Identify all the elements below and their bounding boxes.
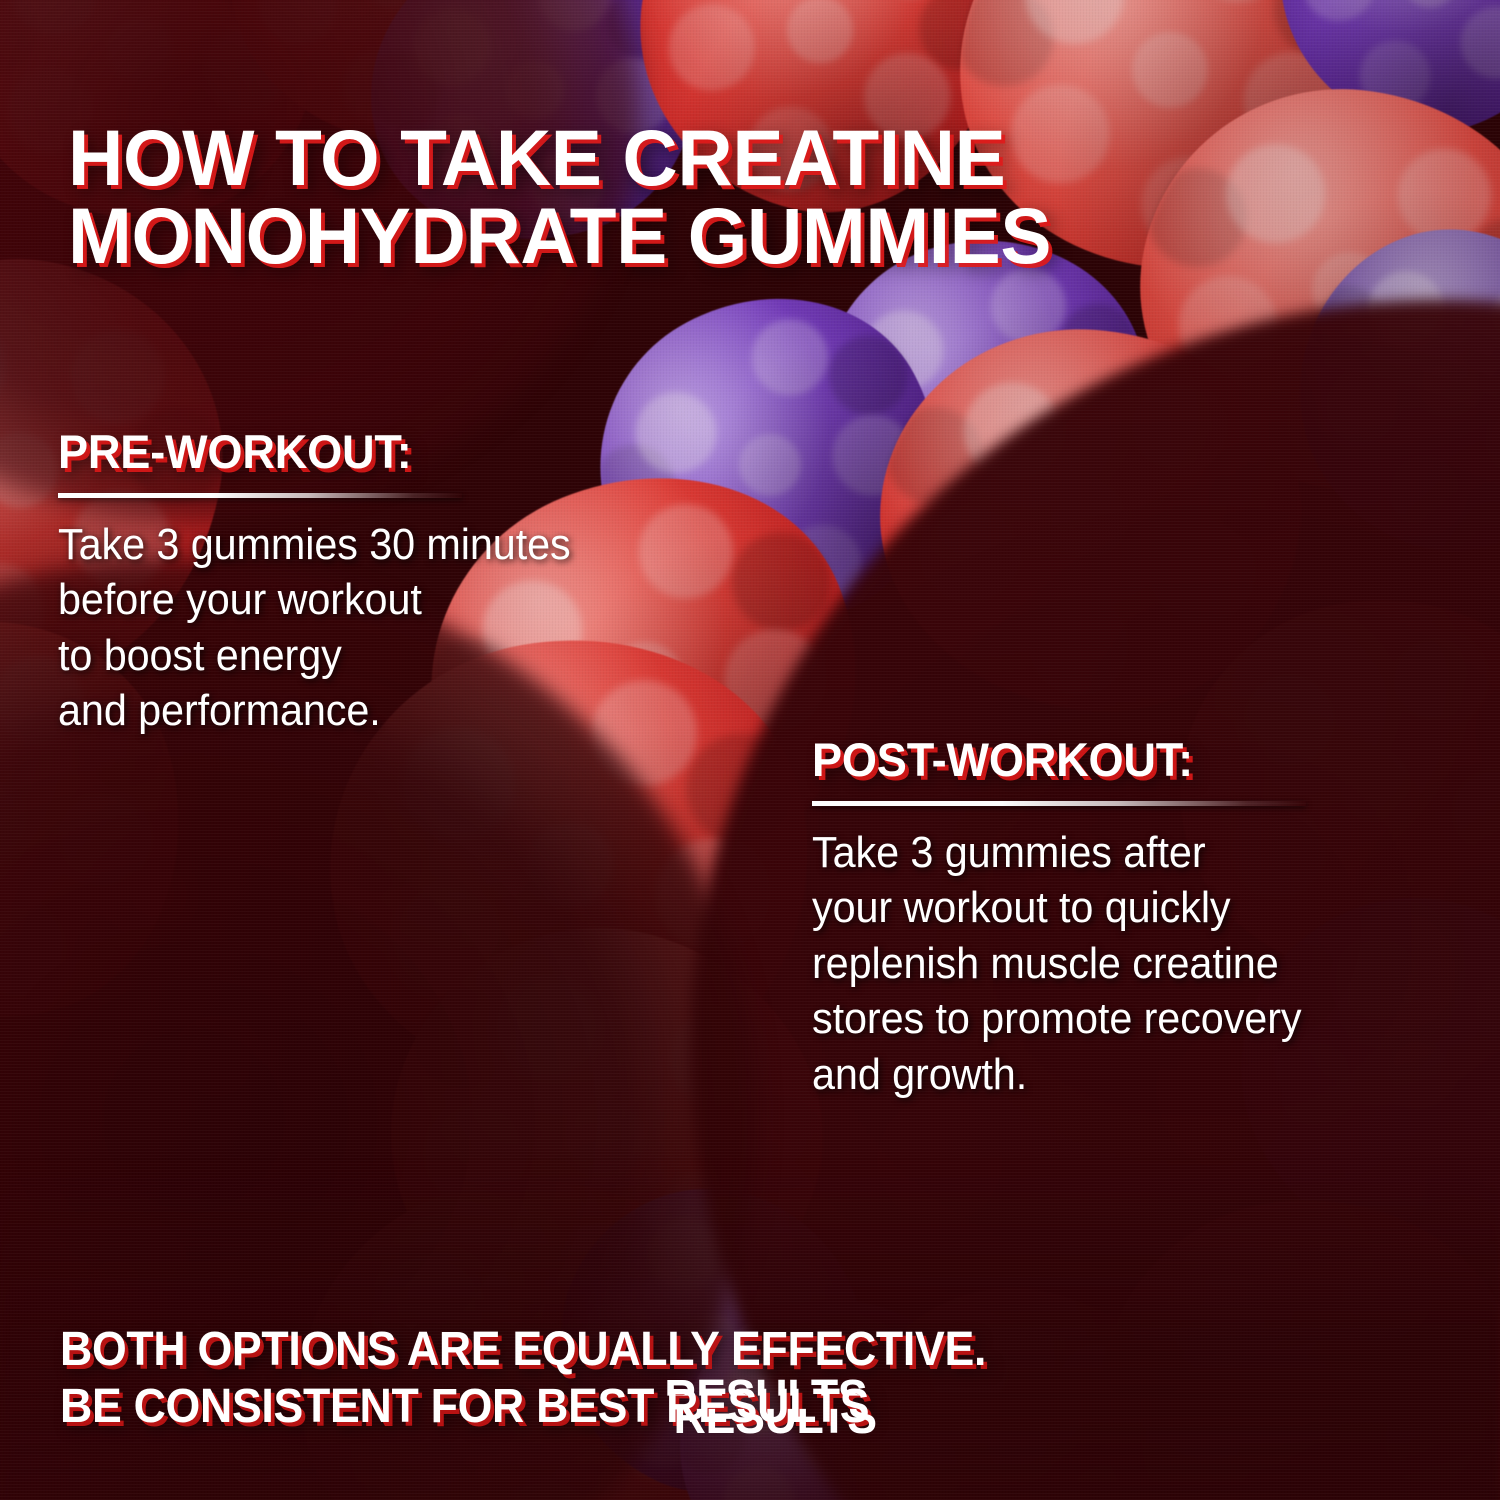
poster: HOW TO TAKE CREATINE MONOHYDRATE GUMMIES… [0,0,1500,1500]
title-line-1: HOW TO TAKE CREATINE [68,113,1005,202]
pre-workout-heading: PRE-WORKOUT: [58,428,730,475]
pre-workout-block: PRE-WORKOUT: Take 3 gummies 30 minutes b… [58,428,758,739]
page-title: HOW TO TAKE CREATINE MONOHYDRATE GUMMIES [68,119,1426,275]
footer-note: BOTH OPTIONS ARE EQUALLY EFFECTIVE. BE C… [60,1322,1343,1435]
post-workout-heading: POST-WORKOUT: [812,736,1446,783]
post-workout-body-line: and growth. [812,1047,1432,1102]
post-workout-body-line: replenish muscle creatine [812,936,1432,991]
title-line-2: MONOHYDRATE GUMMIES [68,191,1051,280]
post-workout-body-line: stores to promote recovery [812,991,1432,1046]
post-workout-block: POST-WORKOUT: Take 3 gummies after your … [812,736,1472,1102]
footer-line-2: BE CONSISTENT FOR BEST RESULTSRESULTSRES… [60,1379,1343,1436]
pre-workout-body-line: Take 3 gummies 30 minutes [58,517,716,572]
content-layer: HOW TO TAKE CREATINE MONOHYDRATE GUMMIES… [0,0,1500,1500]
post-workout-body-line: Take 3 gummies after [812,825,1432,880]
pre-workout-divider [58,493,462,498]
footer-line-2-prefix: BE CONSISTENT FOR BEST [60,1380,666,1433]
pre-workout-body-line: and performance. [58,683,716,738]
pre-workout-body: Take 3 gummies 30 minutes before your wo… [58,517,716,739]
pre-workout-body-line: to boost energy [58,628,716,683]
post-workout-body: Take 3 gummies after your workout to qui… [812,825,1432,1102]
footer-glitch-word: RESULTSRESULTSRESULTS [666,1379,869,1436]
pre-workout-body-line: before your workout [58,572,716,627]
post-workout-body-line: your workout to quickly [812,880,1432,935]
post-workout-divider [812,801,1306,806]
